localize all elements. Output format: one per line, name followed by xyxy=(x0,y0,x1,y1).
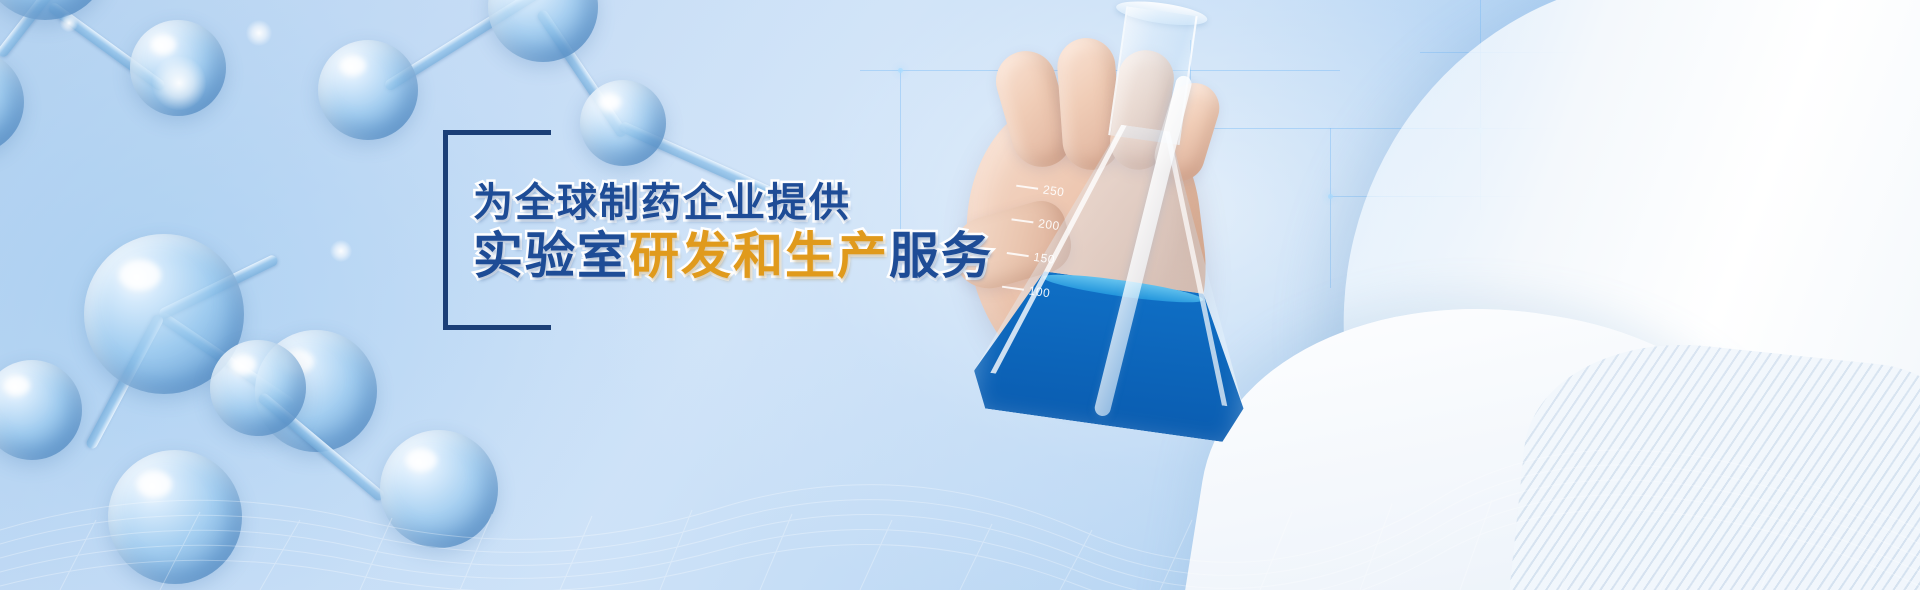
headline-lines: 为全球制药企业提供 实验室研发和生产服务 xyxy=(473,182,993,283)
bokeh-dot xyxy=(246,20,272,46)
molecule-bond xyxy=(0,0,78,59)
molecule-atom xyxy=(84,234,244,394)
graduation-mark xyxy=(1007,252,1029,257)
molecule-atom xyxy=(130,20,226,116)
molecule-atom xyxy=(0,50,24,154)
molecule-cluster-top-left xyxy=(0,0,320,230)
graduation-mark xyxy=(1011,218,1033,223)
bokeh-dot xyxy=(330,240,352,262)
graduation-mark xyxy=(1002,286,1024,291)
molecule-atom xyxy=(0,0,110,20)
molecule-bond xyxy=(47,1,167,92)
graduation-label: 200 xyxy=(1037,216,1060,233)
molecule-atom xyxy=(488,0,598,62)
hero-banner: 250 200 150 100 xyxy=(0,0,1920,590)
flask-graduations: 250 200 150 100 xyxy=(1000,169,1114,317)
molecule-atom xyxy=(318,40,418,140)
molecule-bond xyxy=(535,8,628,139)
headline-line-2-part-3: 服务 xyxy=(889,227,993,285)
molecule-bond xyxy=(383,0,541,92)
headline-line-2-part-1: 实验室 xyxy=(473,227,629,285)
graduation-label: 250 xyxy=(1042,183,1065,200)
graduation-label: 100 xyxy=(1028,284,1051,301)
bokeh-dot xyxy=(60,14,78,32)
headline-line-2: 实验室研发和生产服务 xyxy=(473,230,993,283)
molecule-bond xyxy=(158,254,280,321)
headline-line-2-part-2: 研发和生产 xyxy=(629,227,889,285)
wave-mesh-decoration xyxy=(0,380,1920,590)
wave-mesh-svg xyxy=(0,380,1920,590)
molecule-atom xyxy=(580,80,666,166)
headline-line-1: 为全球制药企业提供 xyxy=(473,182,993,224)
bokeh-dot xyxy=(152,56,206,110)
headline-line-1-text: 为全球制药企业提供 xyxy=(473,180,851,226)
graduation-label: 150 xyxy=(1033,250,1056,267)
graduation-mark xyxy=(1016,185,1038,190)
